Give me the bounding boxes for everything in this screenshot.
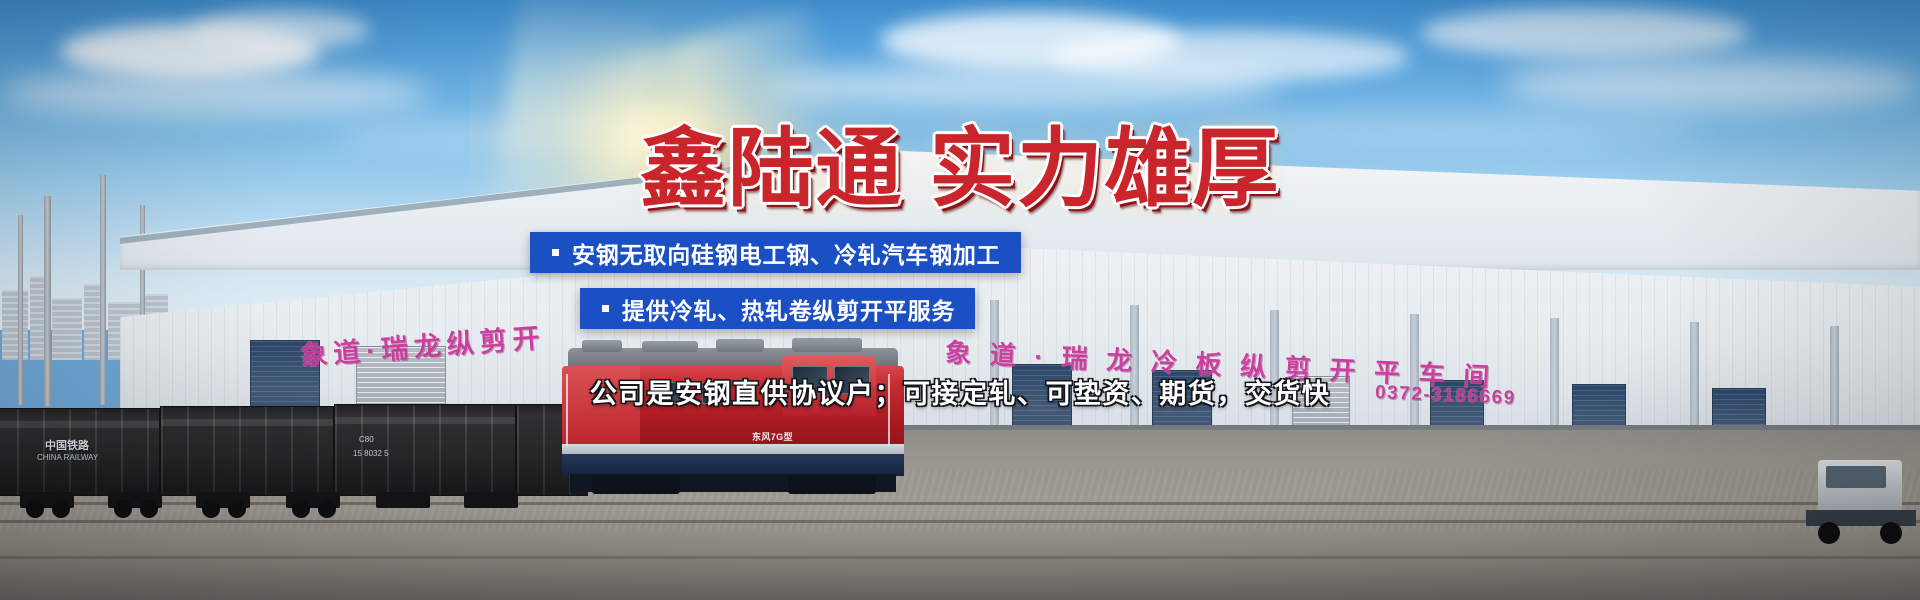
headline-part-2: 实力雄厚 xyxy=(929,119,1280,219)
square-bullet-icon xyxy=(552,249,559,256)
feature-badge-2: 提供冷轧、热轧卷纵剪开平服务 xyxy=(580,288,975,329)
feature-badge-2-label: 提供冷轧、热轧卷纵剪开平服务 xyxy=(622,292,955,326)
headline-part-1: 鑫陆通 xyxy=(640,119,903,219)
square-bullet-icon xyxy=(602,305,609,312)
hero-banner: 象道·瑞龙纵剪开 象 道 · 瑞 龙 冷 板 纵 剪 开 平 车 间 0372-… xyxy=(0,0,1920,600)
banner-content: 鑫陆通实力雄厚 安钢无取向硅钢电工钢、冷轧汽车钢加工 提供冷轧、热轧卷纵剪开平服… xyxy=(0,0,1920,600)
feature-badge-1-label: 安钢无取向硅钢电工钢、冷轧汽车钢加工 xyxy=(572,236,1001,270)
banner-tagline: 公司是安钢直供协议户；可接定轧、可垫资、期货，交货快 xyxy=(0,372,1920,411)
feature-badge-1: 安钢无取向硅钢电工钢、冷轧汽车钢加工 xyxy=(530,232,1021,273)
page-title: 鑫陆通实力雄厚 xyxy=(0,98,1920,223)
